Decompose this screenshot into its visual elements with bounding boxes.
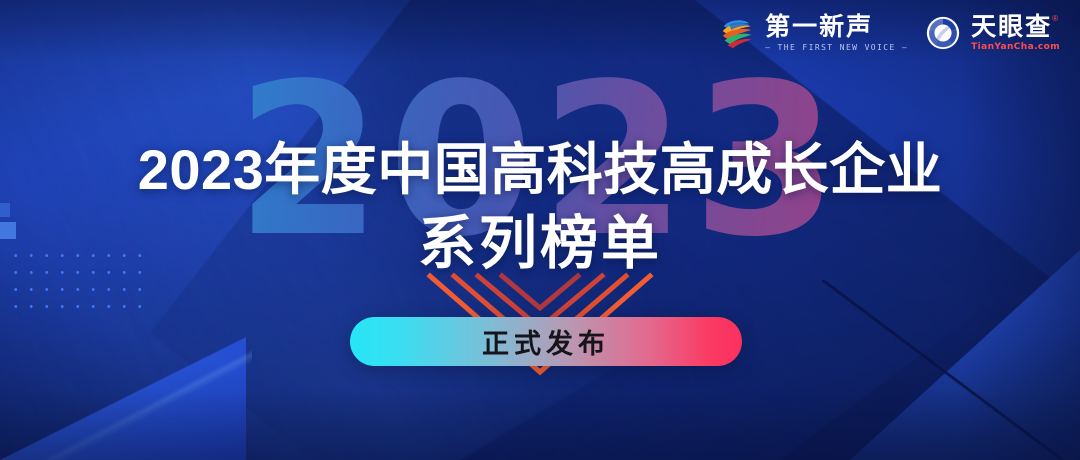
logo-first-new-voice-text: 第一新声 — THE FIRST NEW VOICE — <box>765 15 908 52</box>
logo-tianyancha-text: 天眼查 ® TianYanCha.com <box>971 15 1060 52</box>
logo-tianyancha-name-wrap: 天眼查 ® <box>971 15 1060 40</box>
swirl-ribbon-icon <box>718 14 756 52</box>
promotional-banner: 2023 <box>0 0 1080 460</box>
logo-first-new-voice-name: 第一新声 <box>765 15 908 40</box>
square-accent <box>0 222 16 239</box>
logo-tianyancha-name: 天眼查 <box>971 15 1052 40</box>
logo-first-new-voice-tagline: — THE FIRST NEW VOICE — <box>765 44 908 52</box>
logo-bar: 第一新声 — THE FIRST NEW VOICE — <box>718 14 1060 52</box>
logo-tianyancha-domain: TianYanCha.com <box>971 43 1060 52</box>
logo-tianyancha: 天眼查 ® TianYanCha.com <box>924 14 1060 52</box>
dot-grid-pattern <box>8 247 150 309</box>
registered-trademark-icon: ® <box>1052 15 1058 23</box>
release-announcement-button[interactable]: 正式发布 <box>350 317 742 366</box>
release-announcement-label: 正式发布 <box>482 322 610 361</box>
aperture-eye-icon <box>924 14 962 52</box>
background-vignette <box>0 0 1080 460</box>
logo-first-new-voice: 第一新声 — THE FIRST NEW VOICE — <box>718 14 908 52</box>
square-accent-secondary <box>0 203 10 217</box>
